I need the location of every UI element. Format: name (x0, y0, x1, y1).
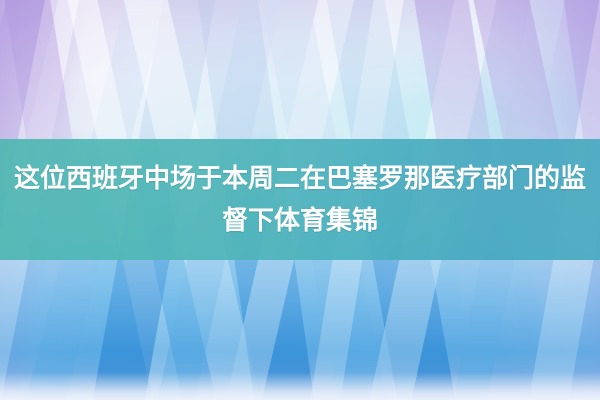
caption-text: 这位西班牙中场于本周二在巴塞罗那医疗部门的监督下体育集锦 (10, 158, 590, 242)
article-banner-image: 这位西班牙中场于本周二在巴塞罗那医疗部门的监督下体育集锦 (0, 0, 600, 400)
caption-band: 这位西班牙中场于本周二在巴塞罗那医疗部门的监督下体育集锦 (0, 139, 600, 260)
